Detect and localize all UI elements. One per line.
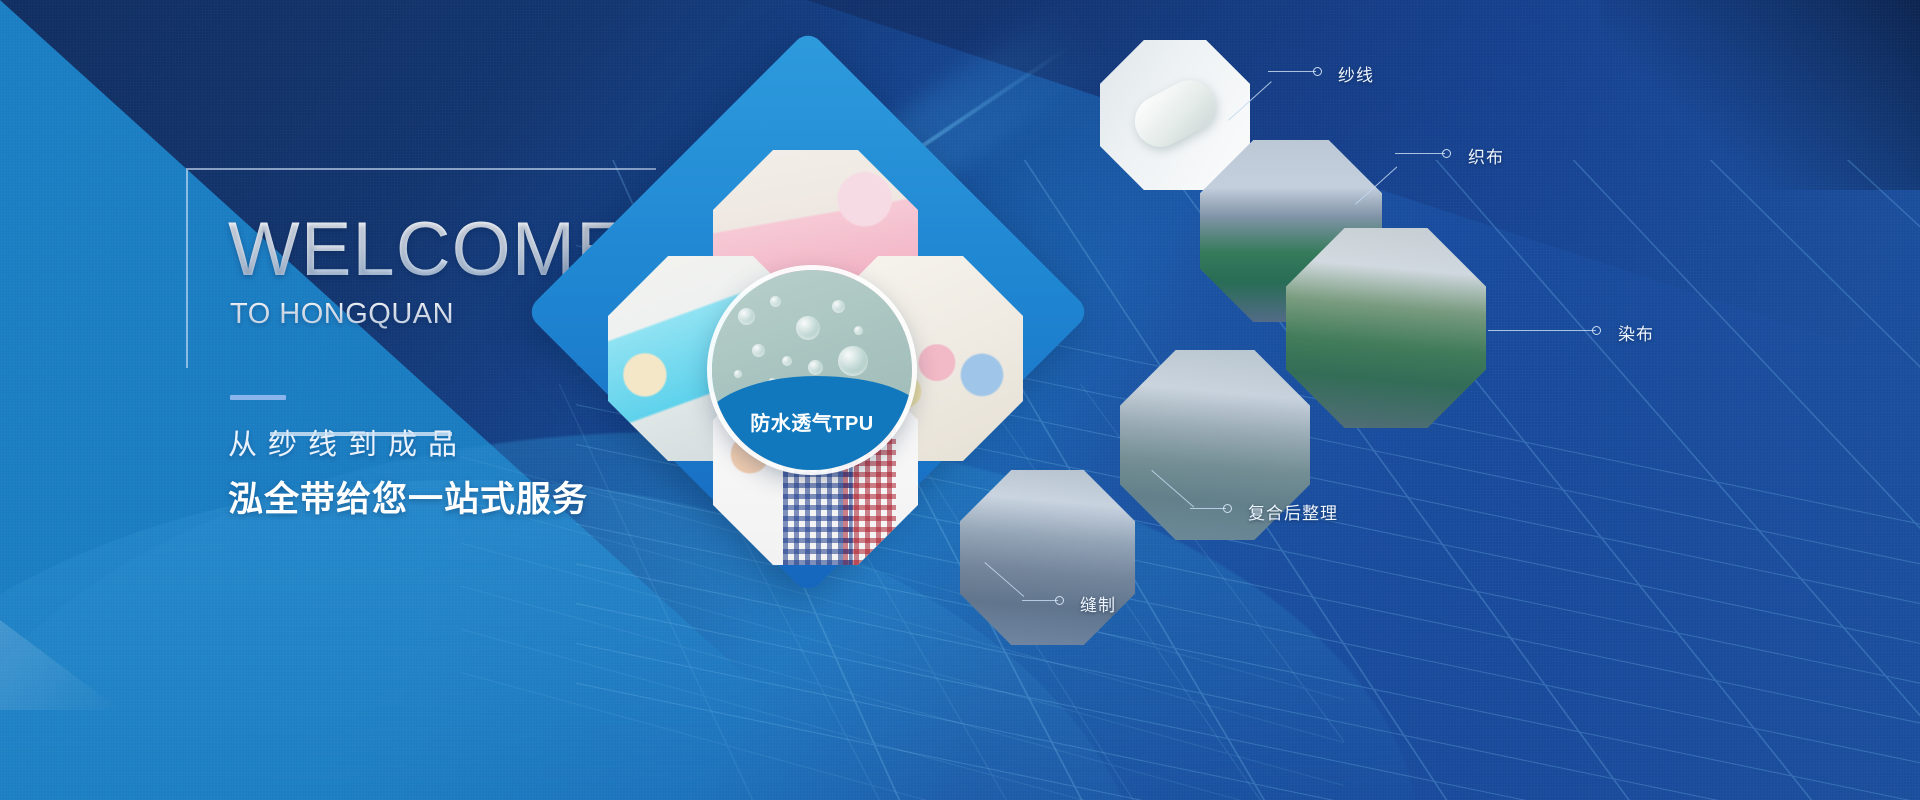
- divider-rule: [270, 432, 452, 436]
- process-label-sewing: 缝制: [1080, 591, 1116, 616]
- tpu-badge[interactable]: 防水透气TPU: [712, 270, 912, 470]
- process-label-yarn: 纱线: [1338, 61, 1374, 86]
- process-label-dyeing: 染布: [1618, 320, 1654, 345]
- tagline-bold: 泓全带给您一站式服务: [228, 471, 588, 522]
- badge-label: 防水透气TPU: [712, 407, 912, 436]
- accent-dash: [230, 395, 286, 400]
- process-label-weaving: 织布: [1468, 143, 1504, 168]
- hero-banner: WELCOME TO HONGQUAN 从纱线到成品 泓全带给您一站式服务 防水…: [0, 0, 1920, 800]
- page-subtitle: TO HONGQUAN: [230, 298, 454, 331]
- process-label-finishing: 复合后整理: [1248, 499, 1338, 524]
- tagline-small: 从纱线到成品: [228, 421, 468, 463]
